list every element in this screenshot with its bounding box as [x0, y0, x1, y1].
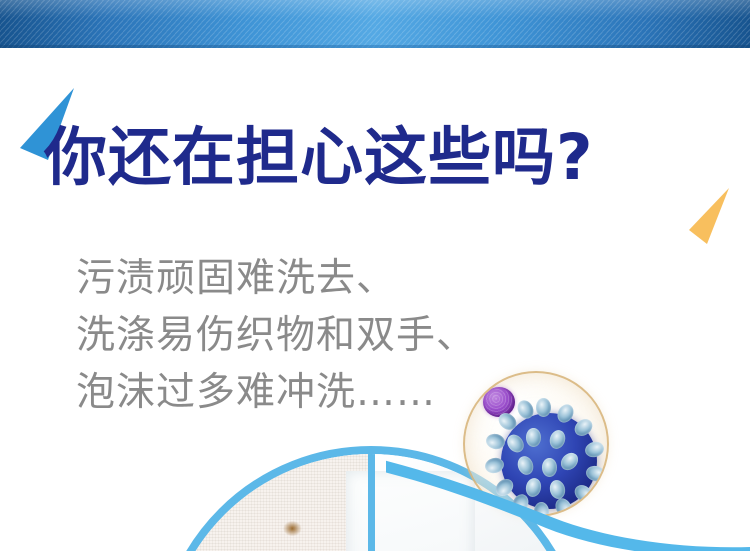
- fabric-weave-texture: [164, 454, 371, 551]
- pain-point-line-3: 泡沫过多难冲洗……: [76, 364, 476, 421]
- circle-divider-line: [368, 454, 375, 551]
- orange-wedge-icon: [685, 186, 735, 248]
- virus-spikes: [492, 404, 606, 517]
- promo-page: 你还在担心这些吗? 污渍顽固难洗去、 洗涤易伤织物和双手、 泡沫过多难冲洗……: [0, 0, 750, 551]
- blue-virus-icon: [501, 413, 597, 509]
- top-blue-banner: [0, 0, 750, 48]
- pain-point-line-1: 污渍顽固难洗去、: [76, 250, 476, 307]
- virus-bubble-illustration: [463, 371, 609, 517]
- banner-gloss: [0, 0, 750, 18]
- pain-point-list: 污渍顽固难洗去、 洗涤易伤织物和双手、 泡沫过多难冲洗……: [76, 250, 476, 421]
- stained-fabric-photo: [164, 454, 371, 551]
- tile-surface: [346, 471, 474, 551]
- banner-base-line: [0, 45, 750, 48]
- pain-point-line-2: 洗涤易伤织物和双手、: [76, 307, 476, 364]
- page-title: 你还在担心这些吗?: [44, 124, 594, 192]
